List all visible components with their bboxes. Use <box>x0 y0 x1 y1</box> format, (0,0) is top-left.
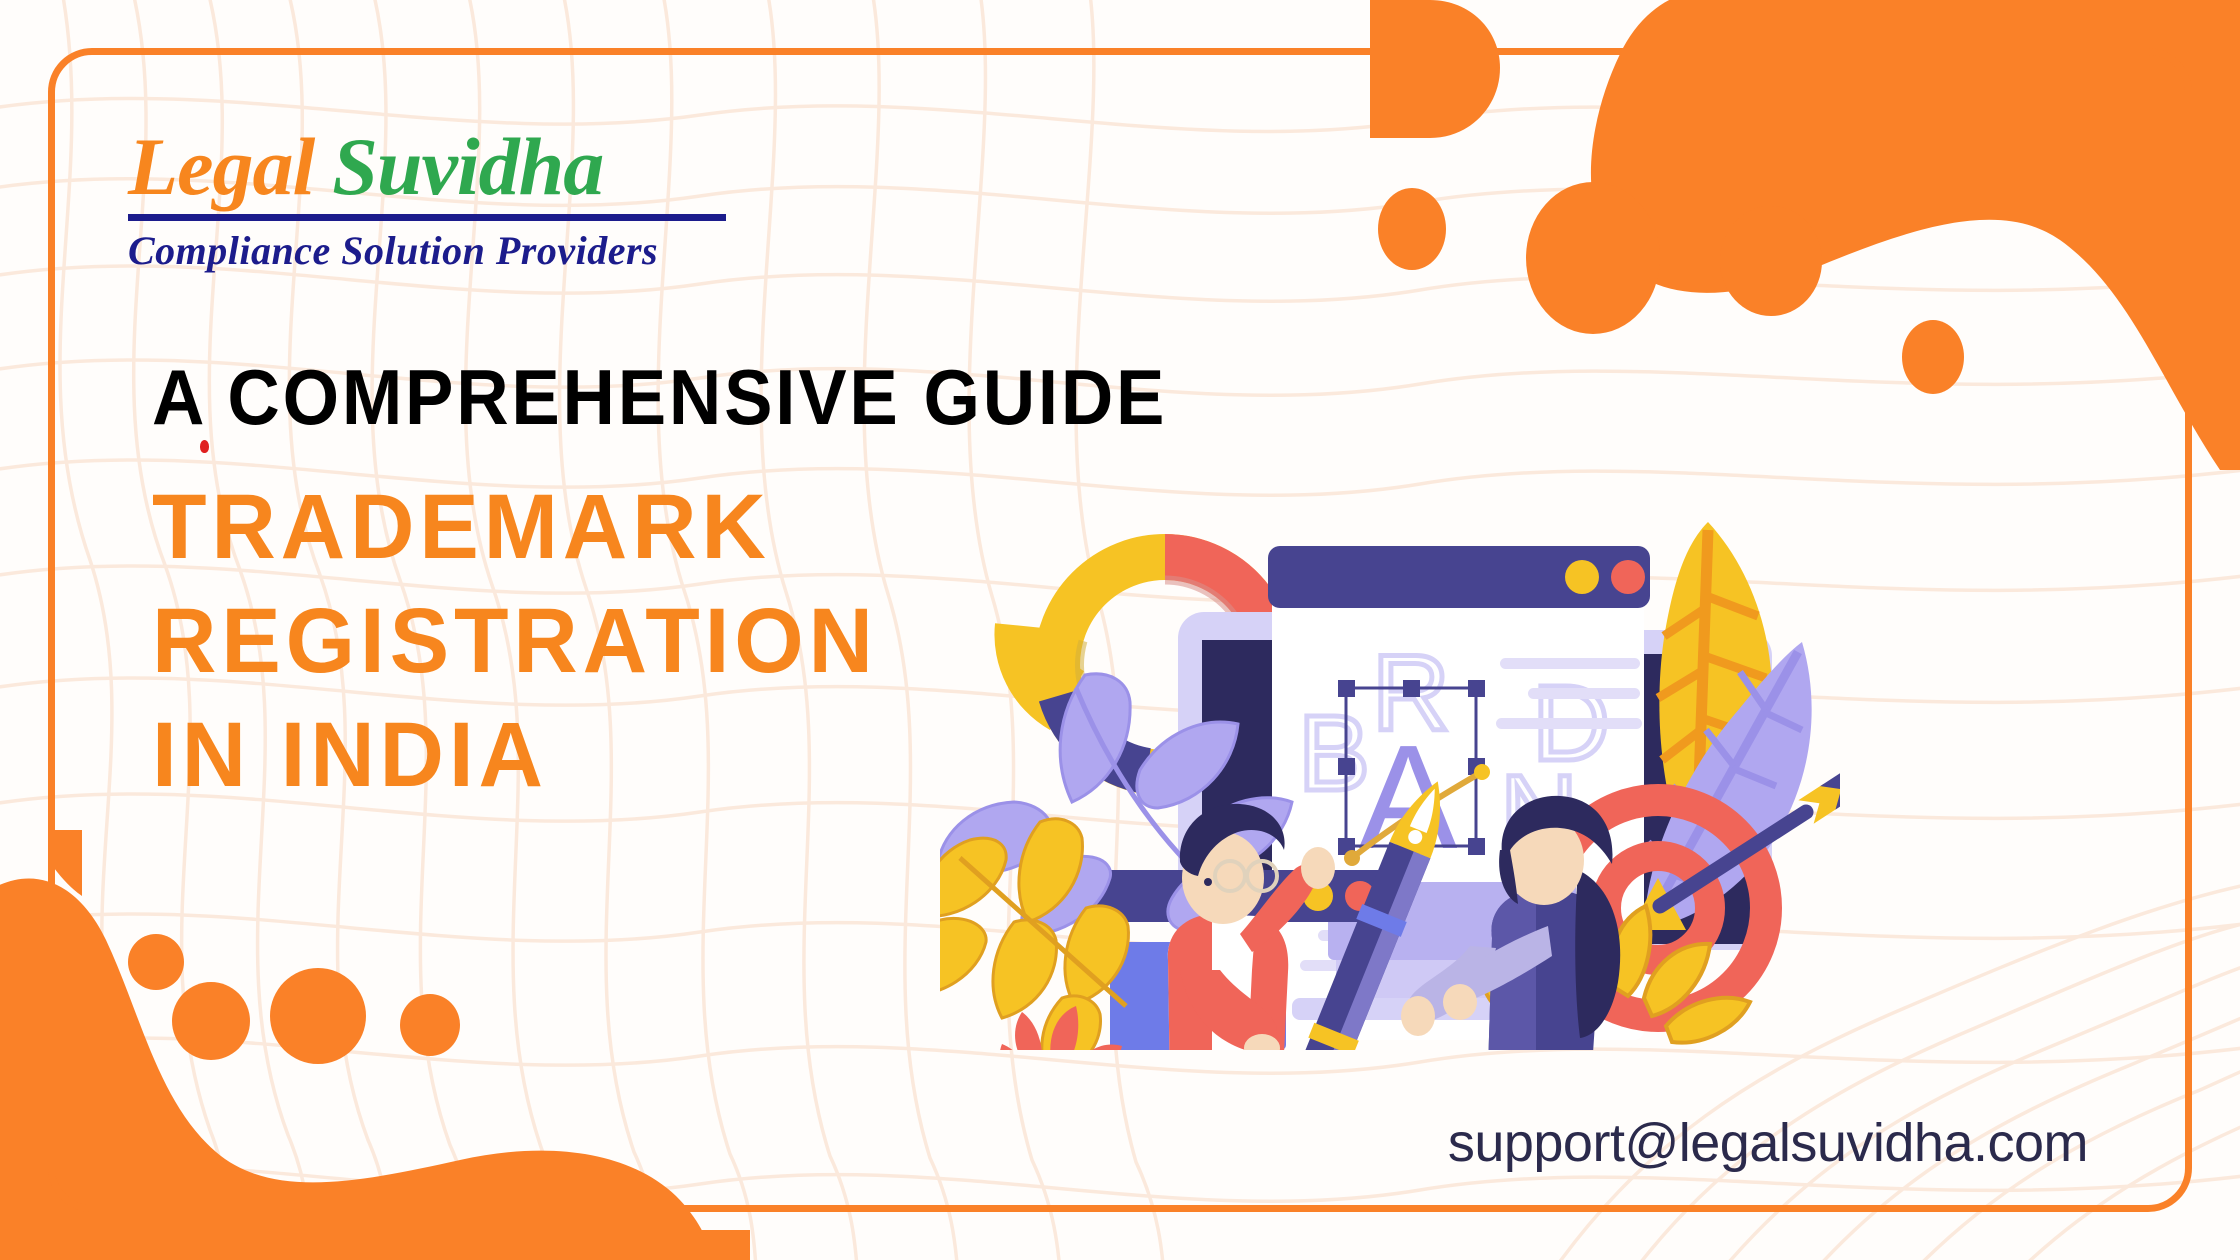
contact-email: support@legalsuvidha.com <box>1448 1112 2088 1174</box>
blob-dot-medium-tr <box>1720 206 1822 316</box>
blob-dot-large-tr <box>1526 182 1660 334</box>
blob-dot-tiny-tr <box>1902 320 1964 394</box>
gold-leaf-branch <box>940 819 1128 1050</box>
logo-word-legal: Legal <box>128 121 314 212</box>
headline-kicker: A COMPREHENSIVE GUIDE <box>152 358 1167 436</box>
logo-tagline: Compliance Solution Providers <box>128 227 726 274</box>
logo-divider-rule <box>128 214 726 221</box>
red-speck-artifact <box>200 440 209 453</box>
poster-canvas: LegalSuvidha Compliance Solution Provide… <box>0 0 2240 1260</box>
logo-wordmark: LegalSuvidha <box>128 128 726 206</box>
logo-word-suvidha: Suvidha <box>332 121 603 212</box>
blob-dot-medium-bl <box>172 982 250 1060</box>
headline-block: A COMPREHENSIVE GUIDE TRADEMARK REGISTRA… <box>152 358 1244 812</box>
corner-blob-bottom-left <box>0 830 750 1260</box>
headline-line-1: TRADEMARK <box>152 470 1211 584</box>
headline-line-3: IN INDIA <box>152 698 1211 812</box>
blob-dot-small-tr <box>1378 188 1446 270</box>
blob-dot-large-bl <box>270 968 366 1064</box>
blob-dot-small-bl <box>128 934 184 990</box>
blob-dot-tiny-bl <box>400 994 460 1056</box>
headline-line-2: REGISTRATION <box>152 584 1211 698</box>
brand-logo: LegalSuvidha Compliance Solution Provide… <box>128 128 726 274</box>
